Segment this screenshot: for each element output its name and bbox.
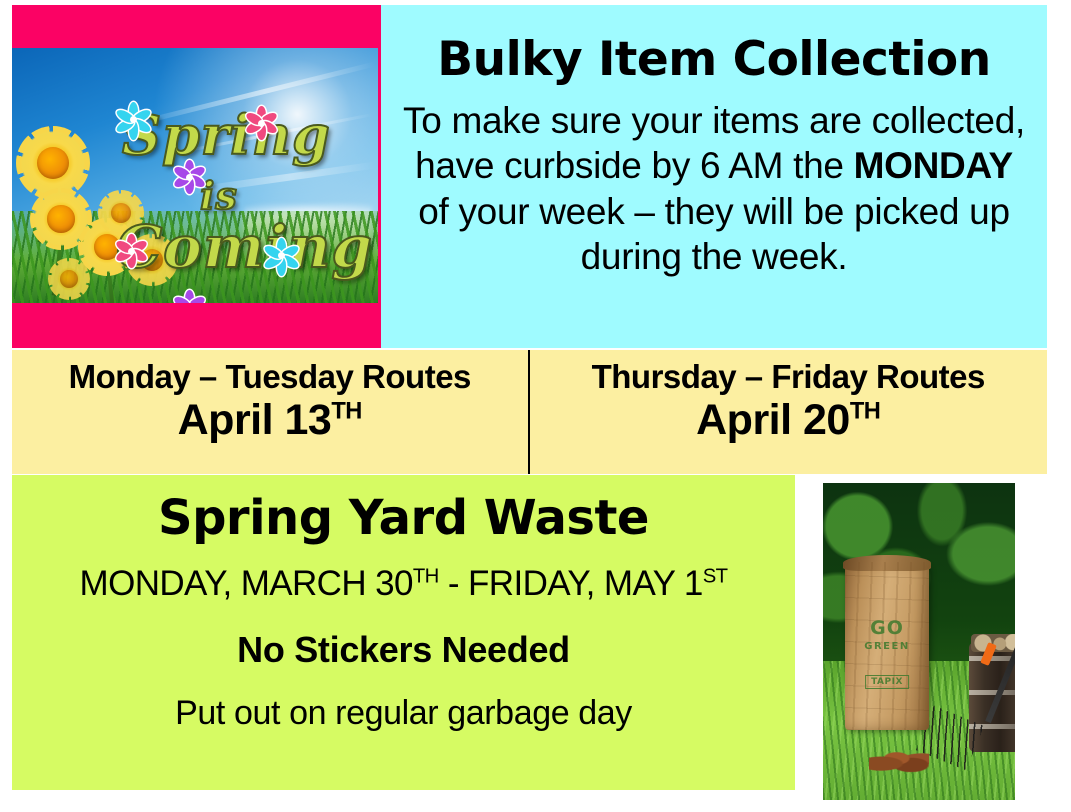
- route-date: April 20TH: [530, 396, 1048, 445]
- route-title: Monday – Tuesday Routes: [12, 359, 528, 396]
- decorative-flower-icon: [244, 106, 278, 140]
- route-date-main: April 13: [178, 396, 332, 444]
- decorative-flower-icon: [172, 290, 206, 303]
- bulky-item-collection-title: Bulky Item Collection: [397, 35, 1031, 84]
- daffodil-flower-icon: [48, 258, 90, 300]
- yard-waste-end-date: FRIDAY, MAY 1: [468, 564, 703, 603]
- barrel-hoop: [969, 690, 1015, 695]
- fallen-leaves: [869, 748, 929, 774]
- route-title: Thursday – Friday Routes: [530, 359, 1048, 396]
- decorative-flower-icon: [114, 234, 148, 268]
- decorative-flower-icon: [264, 238, 298, 272]
- spring-yard-waste-title: Spring Yard Waste: [12, 493, 795, 543]
- bulky-body-emphasis: MONDAY: [854, 145, 1013, 186]
- yard-waste-end-suffix: ST: [703, 566, 728, 588]
- paper-yard-waste-bag: GO GREEN TAPIX: [845, 562, 929, 730]
- bag-label-go: GO: [870, 619, 904, 638]
- yard-waste-start-date: MONDAY, MARCH 30: [80, 564, 413, 603]
- no-stickers-needed-text: No Stickers Needed: [12, 630, 795, 670]
- yard-waste-instruction-note: Put out on regular garbage day: [12, 695, 795, 732]
- route-date-suffix: TH: [331, 399, 362, 425]
- bulky-body-text-end: of your week – they will be picked up du…: [418, 191, 1010, 277]
- route-date: April 13TH: [12, 396, 528, 445]
- collection-routes-band: Monday – Tuesday Routes April 13TH Thurs…: [12, 350, 1047, 474]
- route-column-monday-tuesday: Monday – Tuesday Routes April 13TH: [12, 350, 530, 474]
- bulky-item-collection-panel: Bulky Item Collection To make sure your …: [381, 5, 1047, 348]
- spring-is-coming-card: Spring is Coming: [12, 5, 381, 348]
- route-date-main: April 20: [696, 396, 850, 444]
- spring-script-word: Spring: [122, 103, 331, 167]
- yard-waste-date-range: MONDAY, MARCH 30TH - FRIDAY, MAY 1ST: [12, 565, 795, 604]
- decorative-flower-icon: [172, 160, 206, 194]
- yard-waste-start-suffix: TH: [413, 566, 439, 588]
- coming-script-word: Coming: [116, 213, 373, 281]
- yard-waste-bag-photo: GO GREEN TAPIX: [823, 483, 1015, 800]
- bag-brand-label: TAPIX: [865, 675, 909, 689]
- decorative-flower-icon: [116, 102, 150, 136]
- flower-center: [47, 205, 74, 232]
- spring-yard-waste-panel: Spring Yard Waste MONDAY, MARCH 30TH - F…: [12, 475, 795, 790]
- yard-waste-date-separator: -: [439, 564, 468, 603]
- spring-is-coming-photo: Spring is Coming: [12, 48, 378, 303]
- bulky-item-collection-body: To make sure your items are collected, h…: [397, 98, 1031, 279]
- top-row: Spring is Coming Bulky Item Co: [0, 0, 1071, 350]
- bag-label-green: GREEN: [864, 641, 909, 652]
- route-column-thursday-friday: Thursday – Friday Routes April 20TH: [530, 350, 1048, 474]
- route-date-suffix: TH: [850, 399, 881, 425]
